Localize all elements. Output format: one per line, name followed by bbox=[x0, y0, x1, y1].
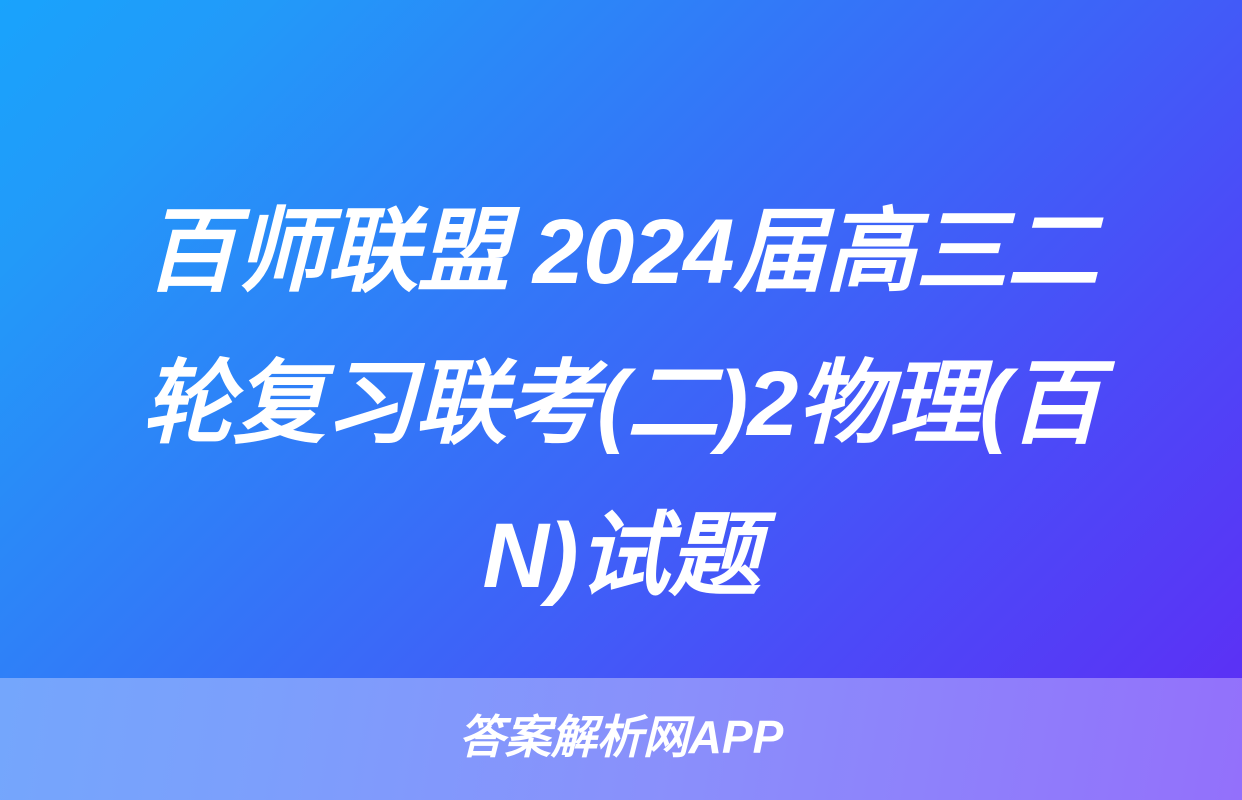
poster-card: 百师联盟 2024届高三二 轮复习联考(二)2物理(百 N)试题 答案解析网AP… bbox=[0, 0, 1242, 800]
page-title-line-1: 百师联盟 2024届高三二 bbox=[78, 176, 1164, 328]
page-title-line-3: N)试题 bbox=[78, 480, 1164, 632]
hero-gradient-panel: 百师联盟 2024届高三二 轮复习联考(二)2物理(百 N)试题 bbox=[0, 0, 1242, 678]
footer-watermark-label: 答案解析网APP bbox=[459, 714, 784, 760]
page-title: 百师联盟 2024届高三二 轮复习联考(二)2物理(百 N)试题 bbox=[78, 176, 1164, 632]
page-title-line-2: 轮复习联考(二)2物理(百 bbox=[78, 328, 1164, 480]
footer-watermark-band: 答案解析网APP bbox=[0, 678, 1242, 800]
